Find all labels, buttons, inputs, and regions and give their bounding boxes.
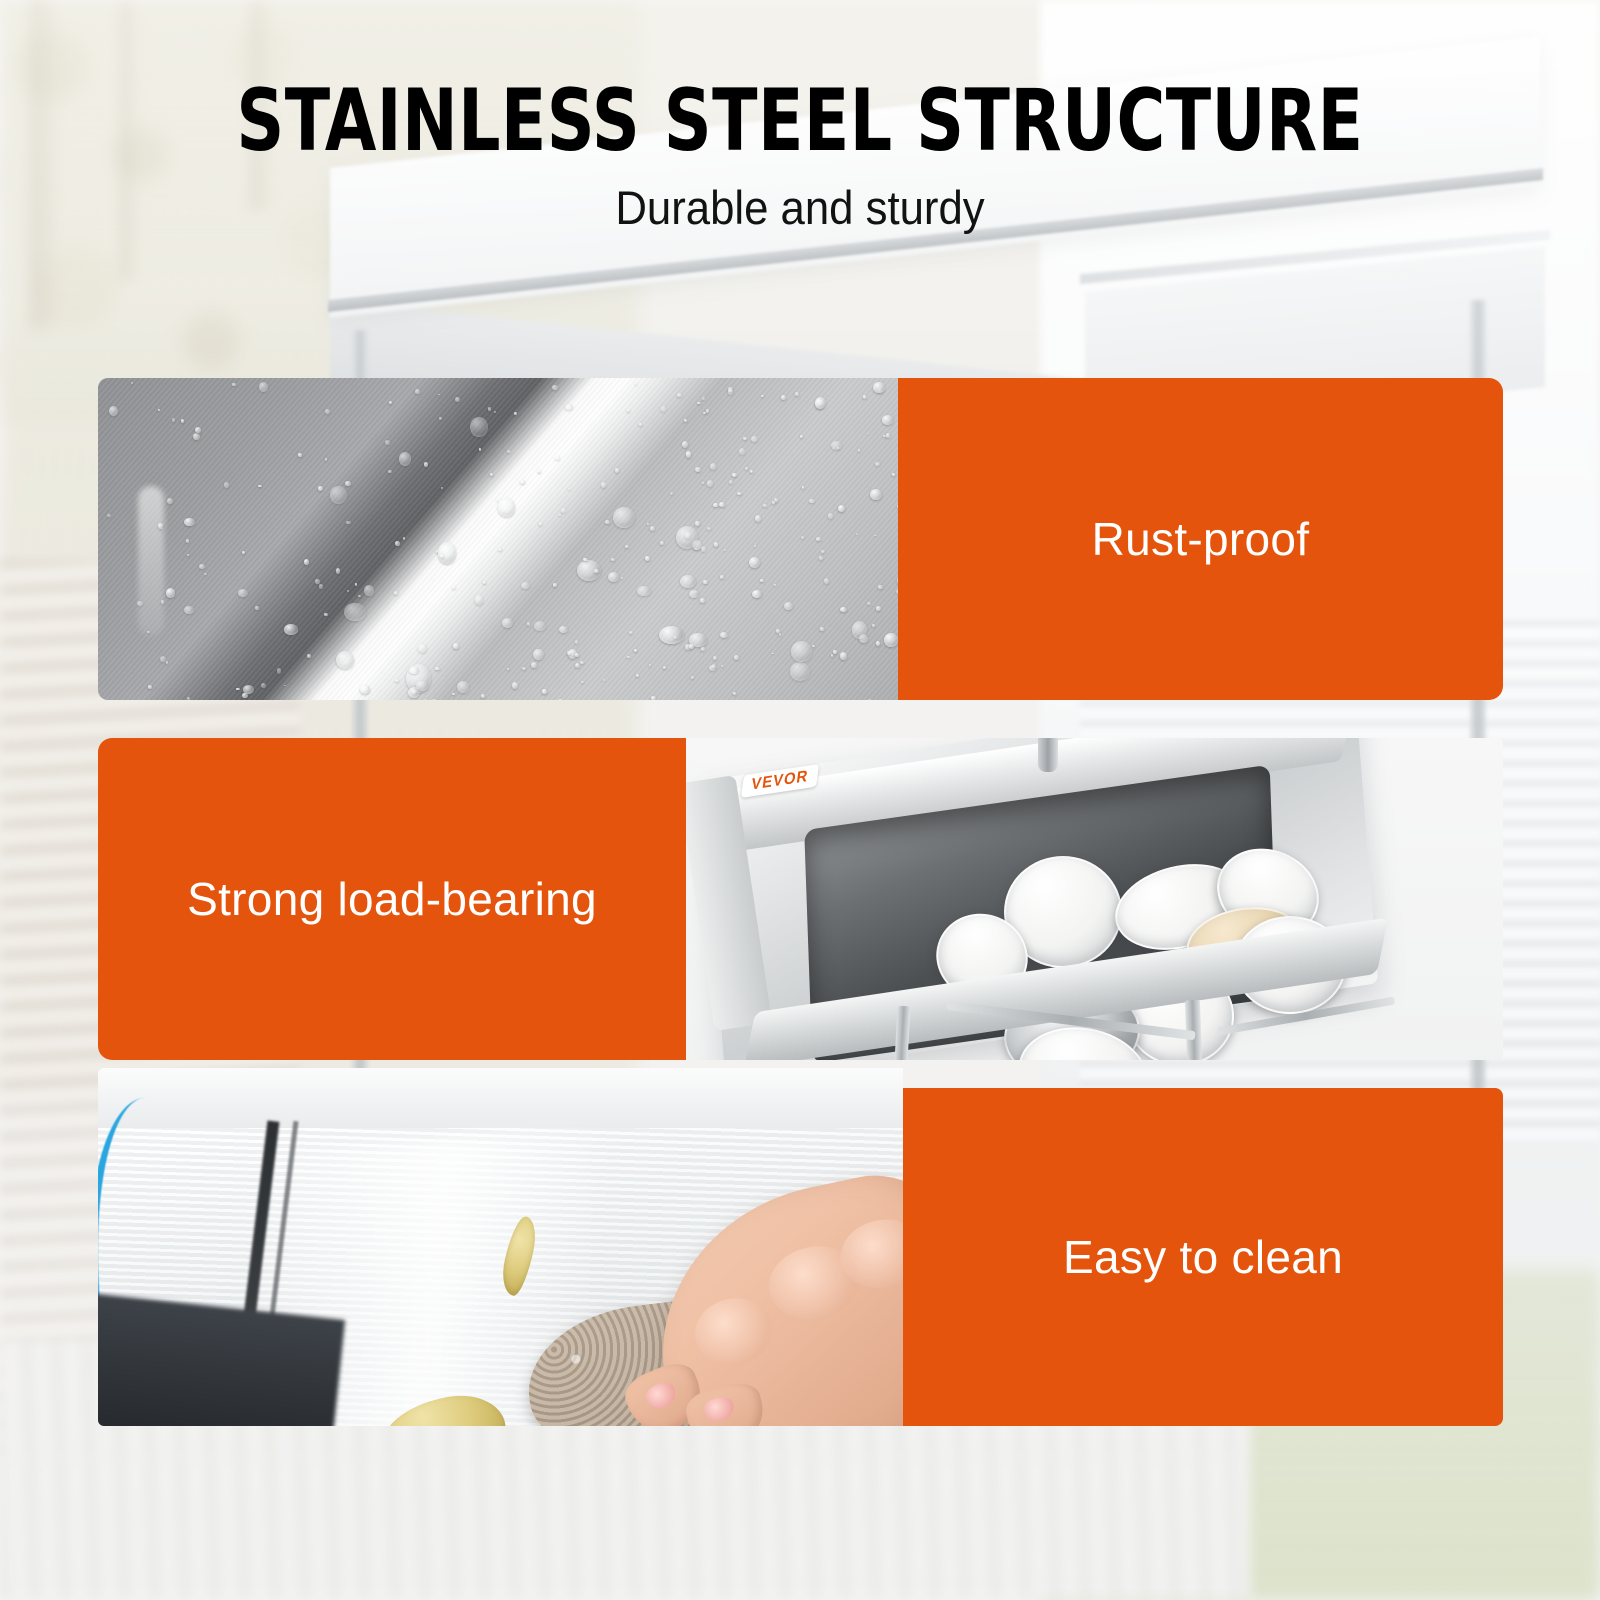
feature-photo-sink-with-dishes: VEVOR [686,738,1503,1060]
water-droplet [318,486,323,491]
water-droplet [167,498,173,504]
water-droplet [660,541,664,545]
water-droplet [181,419,184,423]
water-droplet [876,641,880,646]
feature-caption-label: Rust-proof [1092,512,1310,566]
water-droplet [498,498,515,517]
water-droplet [728,389,733,395]
water-droplet [172,418,175,422]
water-droplet [695,521,700,526]
water-droplet [636,674,640,677]
water-droplet [565,404,574,411]
water-droplet [315,579,320,583]
water-droplet [415,389,419,394]
water-droplet [325,409,331,414]
water-droplet [424,462,428,467]
water-droplet [815,397,826,409]
water-droplet [816,537,821,541]
water-droplet [820,627,825,631]
water-droplet [724,549,726,551]
water-droplet [833,650,837,654]
water-droplet [801,536,804,539]
water-droplet [186,539,189,543]
water-droplet [884,633,898,647]
water-droplet [639,423,642,426]
water-droplet [507,450,511,453]
water-droplet [613,507,635,528]
water-droplet [695,467,700,472]
water-droplet [457,681,469,693]
water-droplet [137,601,143,606]
water-droplet [284,624,298,634]
water-droplet [720,575,725,578]
water-droplet [575,640,579,644]
water-droplet [232,383,236,386]
water-droplet [307,654,311,658]
water-droplet [838,505,845,512]
water-droplet [346,521,351,525]
water-droplet [863,395,867,399]
water-droplet [496,500,498,501]
water-droplet [429,699,439,700]
water-droplet [479,448,481,450]
feature-photo-wiping-counter [98,1068,903,1426]
water-droplet [166,661,168,664]
water-droplet [512,682,518,689]
water-droplet [647,523,649,525]
water-droplet [729,480,733,484]
sink-leg-assembly [886,1006,1406,1060]
water-droplet [439,417,442,420]
water-droplet [772,653,774,654]
water-droplet [779,633,782,636]
water-droplet [733,692,736,695]
water-droplet [304,559,310,565]
feature-row-load-bearing: Strong load-bearing [98,738,1503,1060]
water-droplet [701,546,706,552]
water-droplet [284,685,286,687]
water-droplet [663,666,666,669]
water-droplet [325,458,328,461]
page-subtitle: Durable and sturdy [56,180,1544,235]
water-droplet [750,470,753,473]
water-droplet [389,401,392,404]
water-droplet [475,595,484,605]
water-droplet [193,433,201,441]
water-droplet [583,558,588,562]
water-droplet [824,578,829,584]
water-droplet [184,606,194,615]
water-droplet [533,649,544,660]
water-droplet [637,586,651,597]
water-droplet [697,402,701,405]
water-droplet [812,645,815,647]
water-droplet [158,409,160,411]
water-droplet [732,473,737,477]
water-droplet [772,501,776,504]
water-droplet [795,392,799,396]
water-droplet [670,492,673,495]
water-droplet [261,683,266,688]
water-droplet [147,631,151,634]
water-droplet [567,651,571,655]
water-droplet [364,585,374,597]
water-droplet [876,606,881,612]
water-droplet [199,564,205,569]
water-droplet [360,685,371,694]
water-droplet [868,699,873,700]
water-droplet [752,590,762,598]
page-title: STAINLESS STEEL STRUCTURE [112,78,1488,166]
water-droplet [714,542,718,547]
water-droplet [800,435,803,438]
water-droplet [187,697,190,700]
water-droplet [481,694,485,698]
water-droplet [438,394,440,396]
water-droplet [627,409,630,412]
water-droplet [608,572,619,582]
water-droplet [347,590,349,592]
water-droplet [649,664,651,666]
water-droplet [719,502,725,507]
water-droplet [131,382,133,384]
water-droplet [601,482,606,488]
water-droplet [277,668,282,673]
feature-caption-label: Easy to clean [1063,1230,1343,1284]
feature-caption-panel-easy-to-clean: Easy to clean [903,1088,1503,1426]
water-droplet [520,480,525,485]
water-droplet [542,689,547,694]
water-droplet [751,436,758,442]
water-droplet [498,548,502,551]
water-droplet [837,447,839,449]
water-droplet [558,699,563,700]
water-droplet [739,448,745,455]
water-droplet [621,577,623,579]
sink-leg [895,1006,911,1060]
water-droplet [438,542,456,564]
water-droplet [763,504,767,507]
water-droplet [659,626,684,644]
water-droplet [224,482,230,488]
water-droplet [689,644,694,649]
water-droplet [580,661,584,664]
water-droplet [686,451,691,457]
water-droplet [872,624,876,627]
water-droplet [703,412,706,415]
water-droplet [706,409,710,413]
water-droplet [781,395,786,401]
feature-caption-panel-rust-proof: Rust-proof [898,378,1503,700]
water-droplet [840,607,847,612]
water-droplet [720,632,728,638]
water-droplet [625,545,628,549]
water-droplet [399,452,411,466]
feature-photo-water-droplets [98,378,898,700]
water-droplet [615,468,619,473]
water-droplet [452,586,455,589]
water-droplet [160,656,166,662]
water-droplet [148,685,152,689]
water-droplet [158,523,163,529]
water-droplet [522,667,526,670]
water-droplet-field [98,378,898,700]
header-block: STAINLESS STEEL STRUCTURE Durable and st… [0,78,1600,235]
water-droplet [702,397,705,400]
sink-cross-brace [946,1001,1195,1040]
water-droplet [701,647,705,651]
water-droplet [709,665,716,671]
water-droplet [527,622,531,626]
water-droplet [395,541,400,546]
water-droplet [324,613,328,617]
water-droplet [661,406,666,412]
water-droplet [552,385,559,390]
water-droplet [743,437,747,440]
water-droplet [258,485,262,488]
water-droplet [344,603,366,622]
water-droplet [840,652,847,660]
water-droplet [345,481,352,486]
water-droplet [831,441,842,450]
water-droplet [581,681,584,683]
water-droplet [394,591,398,594]
water-droplet [745,467,749,471]
water-droplet [634,649,637,652]
water-droplet [858,449,861,452]
water-droplet [635,383,637,385]
water-droplet [677,393,682,397]
water-droplet [242,693,247,699]
water-droplet [691,676,694,679]
water-droplet [555,456,560,460]
water-droplet [680,575,696,589]
water-droplet [684,419,688,423]
water-droplet [774,584,776,586]
water-droplet [255,606,259,609]
water-droplet [831,654,833,657]
water-droplet [403,537,405,540]
water-droplet [603,679,606,681]
water-droplet [870,489,882,500]
water-droplet [892,473,895,476]
water-droplet [576,664,578,666]
water-droplet [539,522,542,526]
water-droplet [605,520,610,524]
water-droplet [568,488,570,490]
water-droplet [821,550,825,553]
knuckle [689,1291,779,1372]
water-droplet [259,382,268,392]
water-droplet [707,480,714,487]
water-droplet [236,688,240,691]
water-droplet [358,595,361,597]
water-droplet [161,600,165,604]
water-droplet [238,589,248,597]
water-droplet [559,514,561,516]
water-droplet [195,427,201,433]
water-droplet [166,588,175,598]
water-droplet [828,513,833,519]
water-droplet [107,514,111,517]
water-droplet [575,653,579,657]
water-droplet [627,656,629,658]
water-droplet [611,558,615,561]
water-droplet [488,407,492,411]
water-droplet [852,621,867,639]
water-droplet [559,626,568,634]
water-droplet [330,486,347,503]
water-droplet [809,499,814,503]
feature-caption-label: Strong load-bearing [187,872,597,926]
water-droplet [819,556,823,559]
water-droplet [395,679,399,682]
feature-row-rust-proof: Rust-proof [98,378,1503,700]
water-droplet [791,641,812,662]
water-droplet [534,621,546,631]
water-droplet [483,581,486,584]
water-droplet [760,579,764,582]
water-droplet [531,662,537,669]
water-droplet [453,643,459,649]
water-droplet [713,656,717,660]
water-droplet [355,583,357,585]
water-droplet [874,535,876,537]
water-droplet [856,533,859,536]
water-droplet [561,508,566,513]
water-droplet [184,518,195,526]
water-droplet [494,411,496,413]
water-droplet [629,631,633,634]
water-droplet [682,441,688,448]
sink-scene: VEVOR [686,738,1503,1060]
water-droplet [502,618,513,628]
water-droplet [435,667,440,671]
water-droplet [538,470,541,473]
water-droplet [455,397,461,402]
water-droplet [319,584,323,588]
water-droplet [761,395,764,398]
water-droplet [689,590,698,598]
water-droplet [749,557,760,568]
faucet [1038,738,1058,772]
water-droplet [432,579,434,581]
water-droplet [734,655,740,660]
cleaning-scene [98,1068,903,1426]
water-droplet [490,473,494,476]
water-droplet [514,412,517,415]
water-droplet [703,580,707,584]
water-droplet [875,462,880,467]
water-droplet [553,583,556,587]
water-droplet [336,568,341,573]
water-droplet [336,651,354,669]
water-droplet [707,527,710,530]
water-droplet [408,687,420,698]
water-droplet [886,433,891,437]
water-droplet [452,693,454,695]
water-droplet [109,406,118,416]
water-droplet [867,602,871,605]
water-droplet [651,696,656,701]
water-droplet [737,492,741,495]
water-droplet [242,551,246,555]
water-droplet [802,486,804,489]
water-droplet [440,554,444,558]
water-droplet [685,532,691,539]
water-droplet [187,554,189,556]
water-droplet [878,585,882,588]
water-droplet [700,598,705,603]
water-droplet [755,515,761,522]
water-droplet [645,556,650,562]
water-droplet [784,602,794,611]
water-droplet [873,382,885,393]
water-droplet [882,415,893,424]
water-droplet [867,433,869,434]
water-droplet [521,582,530,589]
feature-row-easy-to-clean: Easy to clean [98,1068,1503,1426]
water-droplet [388,470,392,473]
water-droplet [754,545,756,547]
water-droplet [721,665,723,668]
water-droplet [702,482,704,484]
water-droplet [441,487,443,489]
water-droplet [650,526,655,531]
water-droplet [507,668,509,670]
water-droplet [713,503,718,507]
water-droplet [298,453,303,457]
water-droplet [425,699,428,700]
water-droplet [710,463,716,470]
water-droplet [790,662,810,681]
feature-caption-panel-load-bearing: Strong load-bearing [98,738,686,1060]
water-droplet [381,671,383,672]
water-droplet [204,573,207,575]
water-droplet [385,440,390,445]
water-droplet [418,644,427,653]
water-droplet [470,417,487,437]
